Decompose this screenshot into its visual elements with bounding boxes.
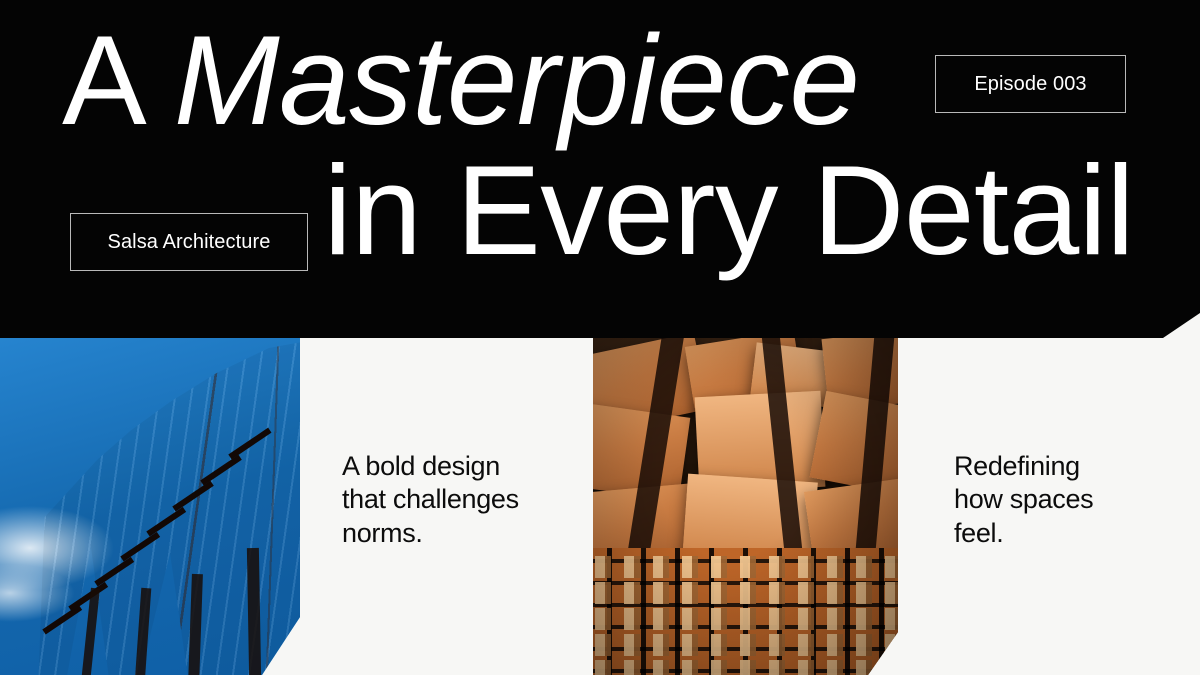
left-caption-line-1: A bold design <box>342 450 572 483</box>
facade-gap-shadow <box>247 548 261 675</box>
episode-badge[interactable]: Episode 003 <box>935 55 1126 113</box>
left-caption-line-2: that challenges <box>342 483 572 516</box>
presentation-slide: A Masterpiece in Every Detail Episode 00… <box>0 0 1200 675</box>
left-caption-block: A bold design that challenges norms. <box>342 450 572 550</box>
right-caption-line-1: Redefining <box>954 450 1184 483</box>
studio-badge-label: Salsa Architecture <box>108 231 271 254</box>
left-caption-line-3: norms. <box>342 517 572 550</box>
headline-italic-word: Masterpiece <box>174 9 860 151</box>
right-caption-line-3: feel. <box>954 517 1184 550</box>
center-ceiling-photo <box>593 338 898 675</box>
hero-header-panel: A Masterpiece in Every Detail <box>0 0 1200 340</box>
right-caption-line-2: how spaces <box>954 483 1184 516</box>
studio-badge[interactable]: Salsa Architecture <box>70 213 308 271</box>
right-caption-block: Redefining how spaces feel. <box>954 450 1184 550</box>
headline-lead-word: A <box>62 9 174 151</box>
left-facade-photo <box>0 338 300 675</box>
episode-badge-label: Episode 003 <box>974 73 1086 96</box>
photo-vignette <box>593 338 898 675</box>
